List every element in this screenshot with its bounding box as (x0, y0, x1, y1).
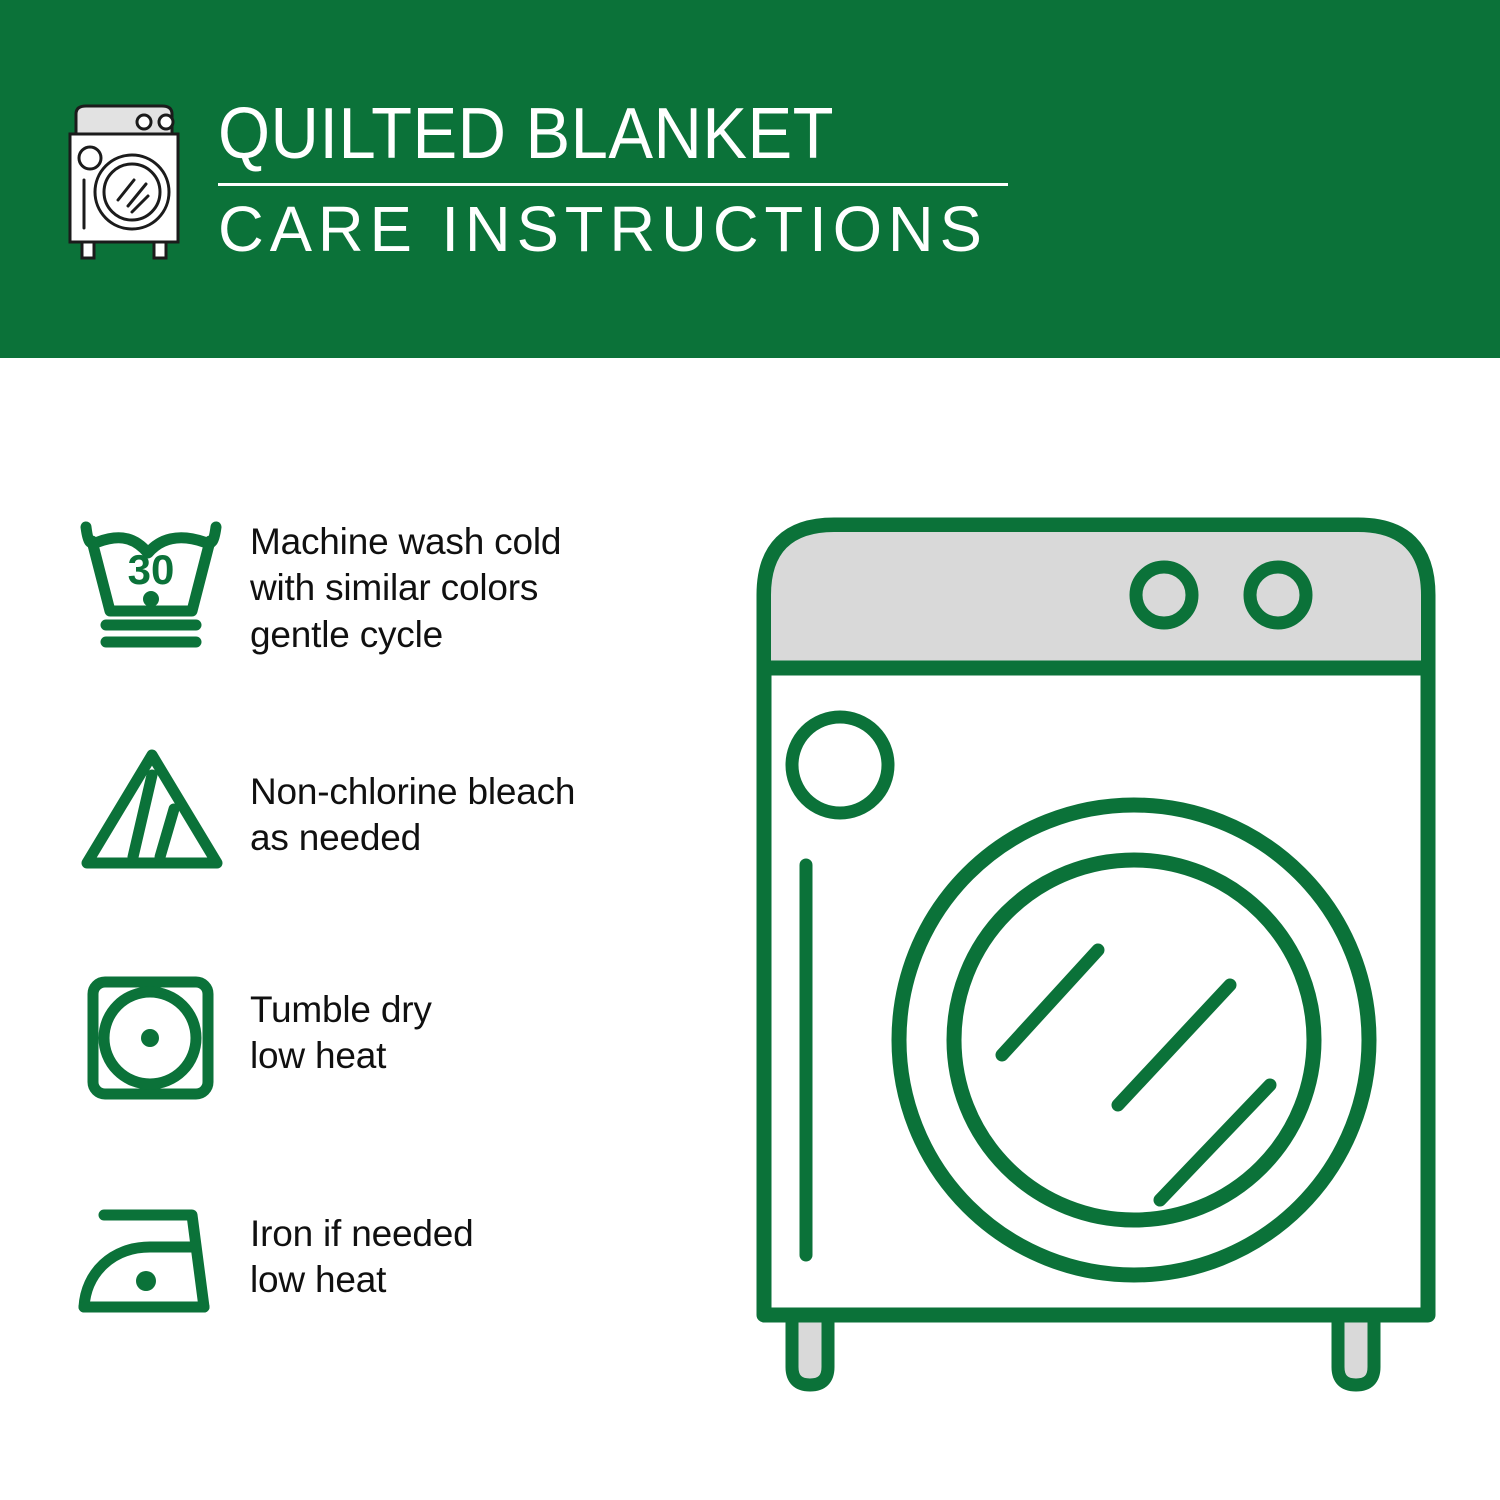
iron-low-heat-icon (70, 1189, 250, 1335)
care-instruction-item-tumble-dry: Tumble dry low heat (70, 961, 710, 1189)
care-instruction-text: Machine wash cold with similar colors ge… (250, 505, 561, 658)
care-instruction-item-bleach: Non-chlorine bleach as needed (70, 733, 710, 961)
wash-tub-30-gentle-icon: 30 (70, 505, 250, 651)
page-title: QUILTED BLANKET (218, 98, 962, 171)
care-instruction-item-wash: 30 Machine wash cold with similar colors… (70, 505, 710, 733)
front-load-washing-machine-illustration (730, 495, 1460, 1425)
control-panel (771, 532, 1421, 668)
care-instruction-text: Iron if needed low heat (250, 1189, 473, 1304)
title-divider (218, 183, 1008, 186)
header-title-block: QUILTED BLANKET CARE INSTRUCTIONS (218, 98, 1018, 264)
header-banner: QUILTED BLANKET CARE INSTRUCTIONS (0, 0, 1500, 358)
care-instruction-text: Tumble dry low heat (250, 961, 432, 1080)
tumble-dry-low-heat-icon (70, 961, 250, 1107)
non-chlorine-bleach-triangle-icon (70, 733, 250, 879)
page-subtitle: CARE INSTRUCTIONS (218, 196, 1010, 263)
care-instructions-page: QUILTED BLANKET CARE INSTRUCTIONS (0, 0, 1500, 1500)
washing-machine-icon (62, 100, 194, 265)
care-instruction-text: Non-chlorine bleach as needed (250, 733, 575, 862)
care-instruction-list: 30 Machine wash cold with similar colors… (70, 505, 710, 1417)
care-instruction-item-iron: Iron if needed low heat (70, 1189, 710, 1417)
wash-temperature-label: 30 (128, 546, 175, 593)
